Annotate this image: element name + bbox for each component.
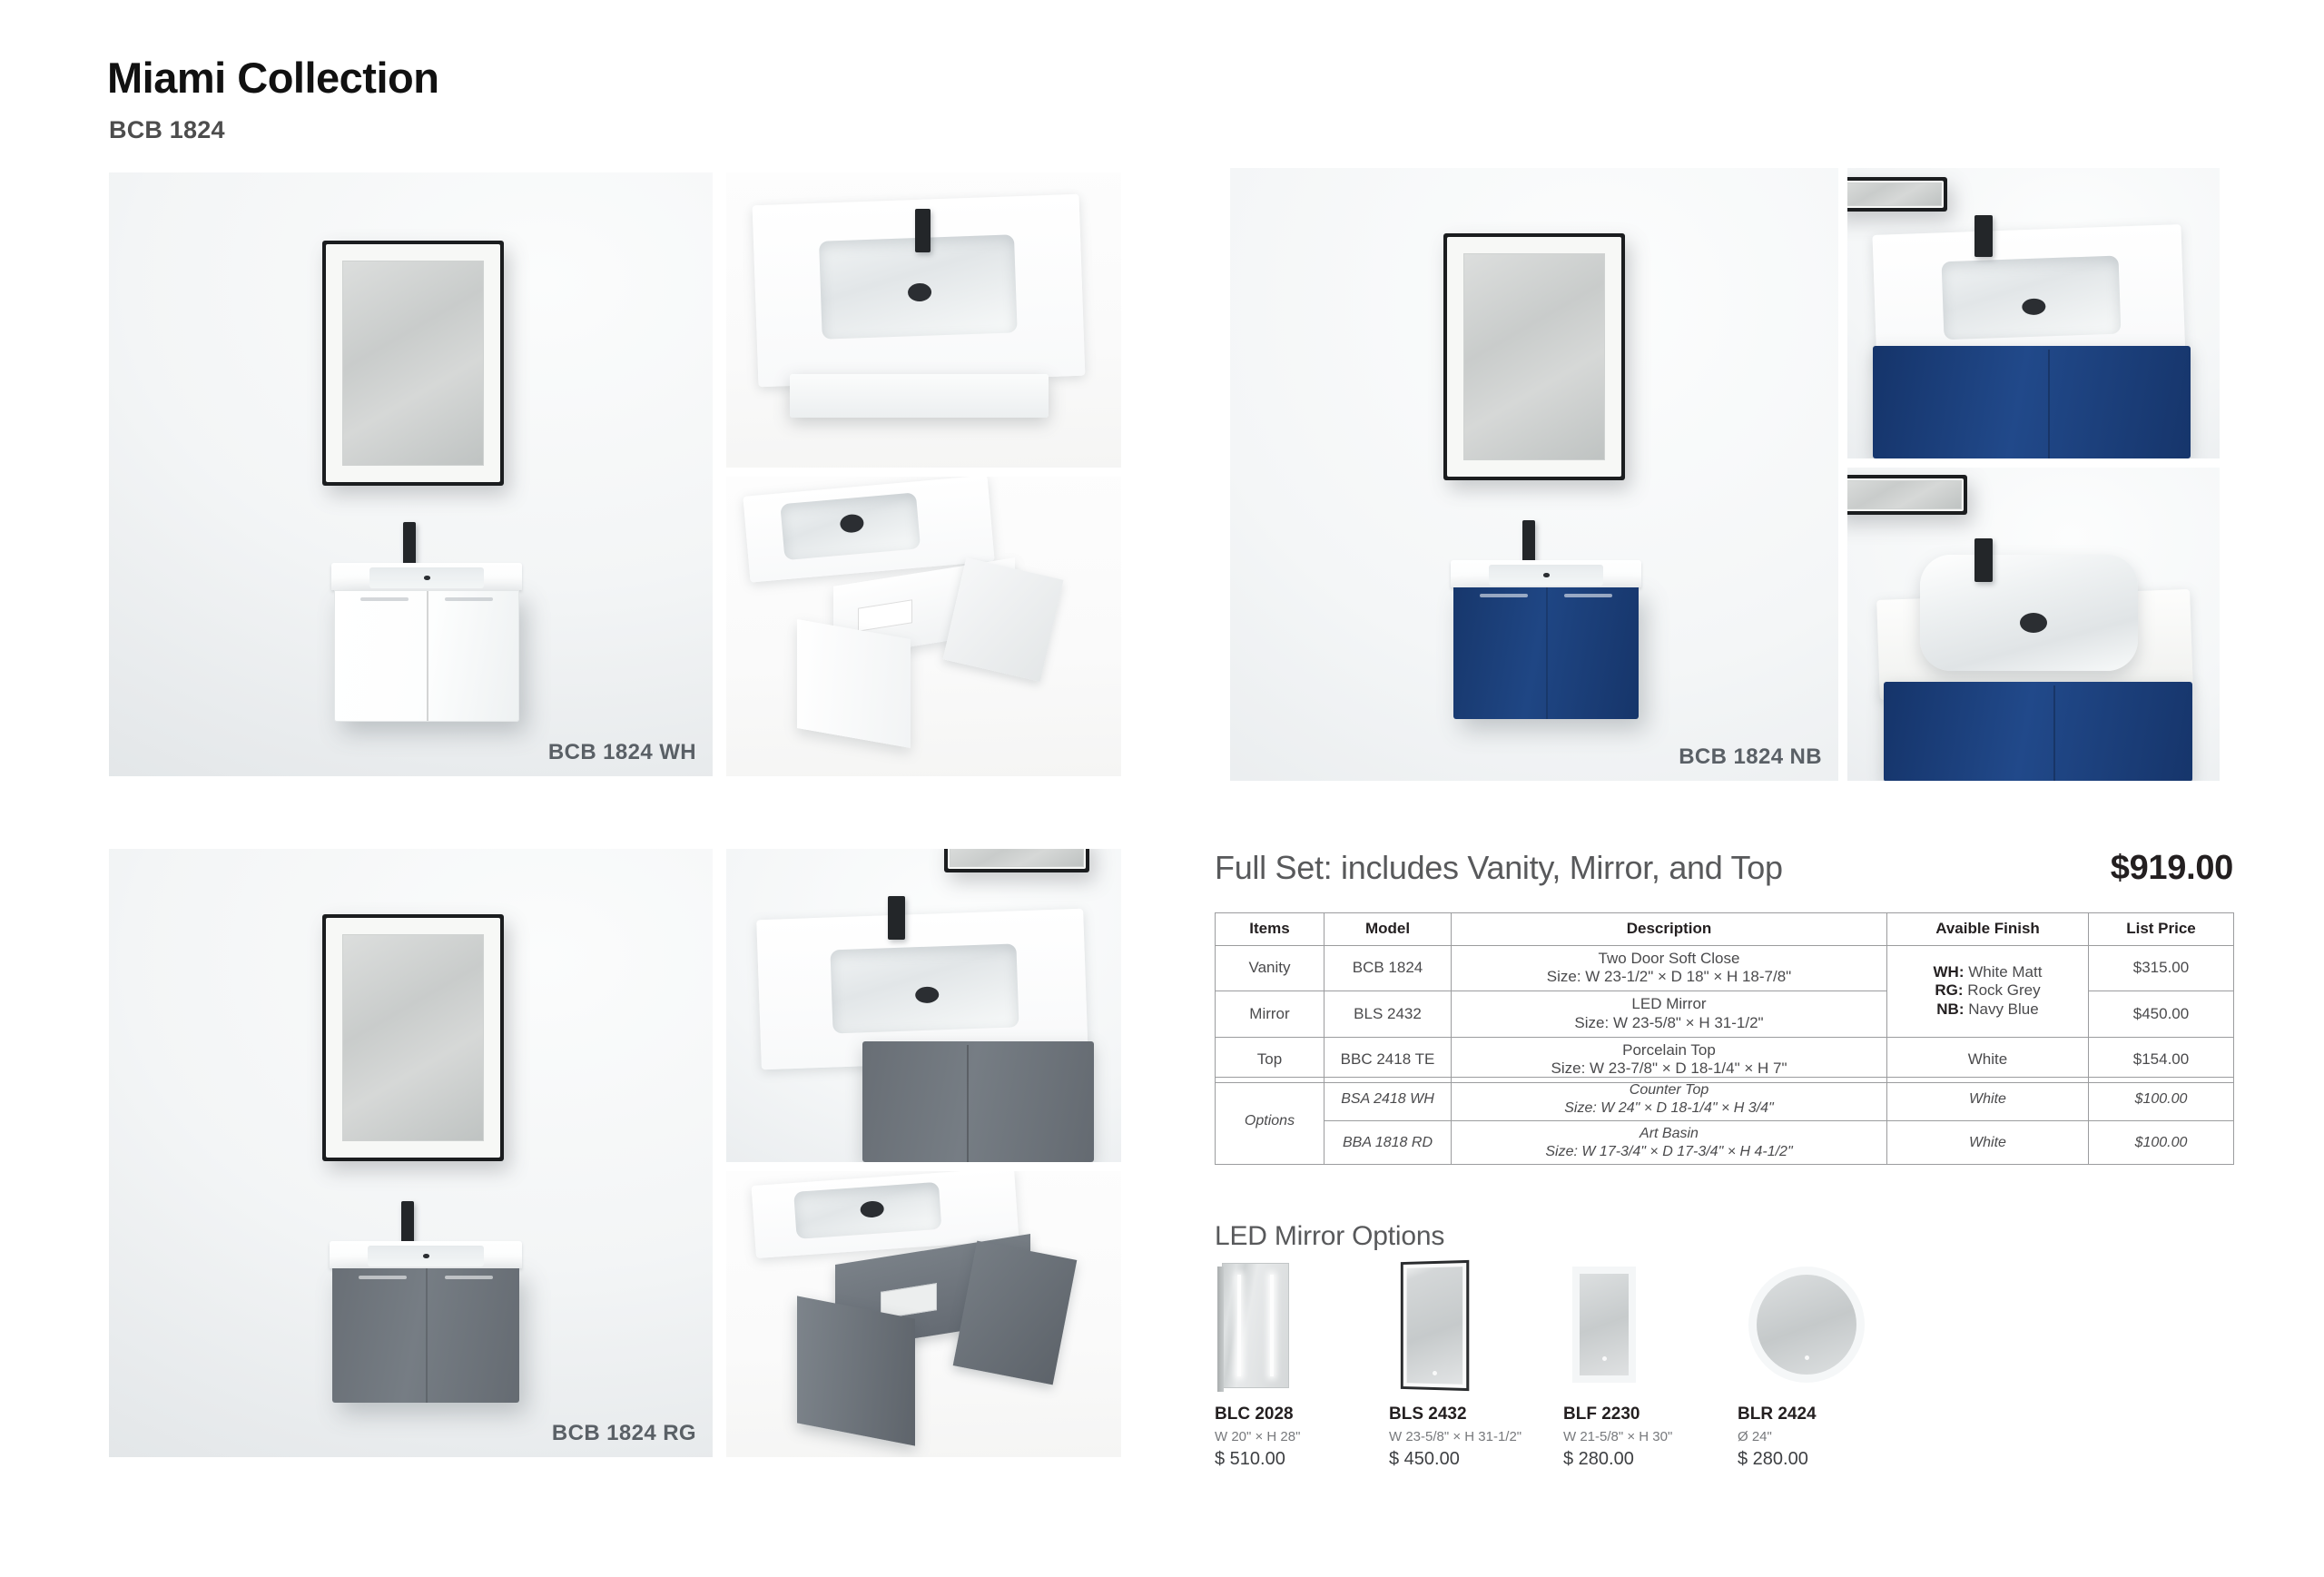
finish-code-wh: WH:: [1934, 963, 1965, 981]
vanity-illustration-nb: [1451, 560, 1641, 719]
cabinet-nb-illustration: [1873, 346, 2191, 458]
photo-caption-rg: BCB 1824 RG: [552, 1421, 696, 1446]
led-mirror-price: $ 280.00: [1563, 1449, 1738, 1470]
led-mirror-name: BLF 2230: [1563, 1405, 1738, 1424]
product-photo-wh-main: BCB 1824 WH: [109, 172, 713, 776]
product-photo-nb-detail-basin: [1847, 468, 2220, 781]
product-photo-nb-detail-top: [1847, 168, 2220, 458]
product-photo-rg-detail-top: [726, 849, 1121, 1162]
led-mirror-price: $ 450.00: [1389, 1449, 1563, 1470]
cell-desc: Two Door Soft Close Size: W 23-1/2" × D …: [1452, 945, 1887, 991]
led-mirror-option-blc2028[interactable]: BLC 2028 W 20" × H 28" $ 510.00: [1215, 1257, 1389, 1470]
cell-finish: White: [1887, 1078, 2089, 1121]
product-photo-nb-main: BCB 1824 NB: [1230, 168, 1838, 781]
desc-line-1: LED Mirror: [1631, 995, 1706, 1012]
finish-name-wh: White Matt: [1965, 963, 2043, 981]
mirror-edge-illustration: [1847, 177, 1947, 212]
cell-price: $450.00: [2089, 991, 2234, 1037]
photo-caption-nb: BCB 1824 NB: [1679, 744, 1822, 770]
full-set-label: Full Set: includes Vanity, Mirror, and T…: [1215, 849, 1783, 887]
led-mirror-cabinet-icon: [1215, 1257, 1389, 1392]
faucet-nb-illustration: [1974, 215, 1993, 257]
faucet-basin-illustration: [1974, 538, 1993, 582]
cell-item: Mirror: [1216, 991, 1324, 1037]
cabinet-detail-illustration: [790, 374, 1049, 418]
led-mirror-round-icon: [1738, 1257, 1912, 1392]
cell-finish: White: [1887, 1121, 2089, 1165]
vanity-illustration-rg: [330, 1241, 522, 1403]
desc-line-1: Porcelain Top: [1622, 1041, 1716, 1059]
cell-model: BBA 1818 RD: [1324, 1121, 1452, 1165]
mirror-edge-illustration-3: [944, 849, 1089, 872]
table-header-row: Items Model Description Avaible Finish L…: [1216, 913, 2234, 946]
led-mirror-name: BLS 2432: [1389, 1405, 1563, 1424]
options-table: Options BSA 2418 WH Counter Top Size: W …: [1215, 1077, 2234, 1165]
led-mirror-option-blr2424[interactable]: BLR 2424 Ø 24" $ 280.00: [1738, 1257, 1912, 1470]
options-row: BBA 1818 RD Art Basin Size: W 17-3/4" × …: [1216, 1121, 2234, 1165]
cell-finish-options: WH: White Matt RG: Rock Grey NB: Navy Bl…: [1887, 945, 2089, 1037]
desc-line-1: Two Door Soft Close: [1599, 950, 1740, 967]
catalog-page: Miami Collection BCB 1824 BCB 1824 WH: [0, 0, 2324, 1577]
th-desc: Description: [1452, 913, 1887, 946]
desc-line-2: Size: W 23-1/2" × D 18" × H 18-7/8": [1457, 968, 1881, 987]
led-mirror-size: W 21-5/8" × H 30": [1563, 1429, 1738, 1444]
full-set-price: $919.00: [2111, 849, 2233, 888]
faucet-detail-illustration: [915, 209, 931, 252]
cell-item: Vanity: [1216, 945, 1324, 991]
product-photo-wh-detail-top: [726, 172, 1121, 468]
art-basin-illustration: [1920, 555, 2138, 671]
spec-table: Items Model Description Avaible Finish L…: [1215, 912, 2234, 1083]
options-row: Options BSA 2418 WH Counter Top Size: W …: [1216, 1078, 2234, 1121]
open-door-left-rg-illustration: [797, 1296, 915, 1445]
cell-desc: LED Mirror Size: W 23-5/8" × H 31-1/2": [1452, 991, 1887, 1037]
cell-desc: Art Basin Size: W 17-3/4" × D 17-3/4" × …: [1452, 1121, 1887, 1165]
cabinet-rg-illustration: [862, 1041, 1094, 1162]
desc-line-1: Art Basin: [1640, 1126, 1699, 1141]
finish-code-nb: NB:: [1936, 1000, 1964, 1018]
mirror-illustration: [322, 241, 504, 486]
led-mirror-price: $ 510.00: [1215, 1449, 1389, 1470]
led-mirror-name: BLR 2424: [1738, 1405, 1912, 1424]
led-mirror-option-bls2432[interactable]: BLS 2432 W 23-5/8" × H 31-1/2" $ 450.00: [1389, 1257, 1563, 1470]
faucet-rg-illustration: [888, 896, 905, 940]
open-door-illustration: [942, 557, 1063, 682]
led-mirror-size: W 20" × H 28": [1215, 1429, 1389, 1444]
desc-line-2: Size: W 17-3/4" × D 17-3/4" × H 4-1/2": [1457, 1143, 1881, 1161]
full-set-row: Full Set: includes Vanity, Mirror, and T…: [1215, 849, 2233, 888]
th-model: Model: [1324, 913, 1452, 946]
cell-price: $315.00: [2089, 945, 2234, 991]
vanity-illustration-wh: [331, 563, 522, 722]
led-mirror-size: W 23-5/8" × H 31-1/2": [1389, 1429, 1563, 1444]
led-mirror-options-grid: BLC 2028 W 20" × H 28" $ 510.00 BLS 2432…: [1215, 1257, 1912, 1470]
th-finish: Avaible Finish: [1887, 913, 2089, 946]
led-mirror-framed-icon: [1389, 1257, 1563, 1392]
desc-line-2: Size: W 24" × D 18-1/4" × H 3/4": [1457, 1099, 1881, 1118]
mirror-illustration-nb: [1443, 233, 1625, 480]
cell-model: BLS 2432: [1324, 991, 1452, 1037]
page-title: Miami Collection: [107, 53, 438, 103]
cell-model: BSA 2418 WH: [1324, 1078, 1452, 1121]
led-mirror-name: BLC 2028: [1215, 1405, 1389, 1424]
mirror-edge-illustration-2: [1847, 475, 1967, 515]
product-photo-rg-detail-open: [726, 1171, 1121, 1457]
cell-model: BCB 1824: [1324, 945, 1452, 991]
th-items: Items: [1216, 913, 1324, 946]
led-mirror-option-blf2230[interactable]: BLF 2230 W 21-5/8" × H 30" $ 280.00: [1563, 1257, 1738, 1470]
open-door-left-illustration: [797, 619, 911, 748]
th-price: List Price: [2089, 913, 2234, 946]
mirror-illustration-rg: [322, 914, 504, 1161]
cell-price: $100.00: [2089, 1078, 2234, 1121]
photo-caption-wh: BCB 1824 WH: [548, 740, 696, 765]
cell-options-label: Options: [1216, 1078, 1324, 1165]
finish-code-rg: RG:: [1935, 981, 1963, 999]
cell-desc: Counter Top Size: W 24" × D 18-1/4" × H …: [1452, 1078, 1887, 1121]
desc-line-1: Counter Top: [1630, 1082, 1709, 1098]
desc-line-2: Size: W 23-5/8" × H 31-1/2": [1457, 1014, 1881, 1033]
finish-name-nb: Navy Blue: [1965, 1000, 2039, 1018]
table-row: Vanity BCB 1824 Two Door Soft Close Size…: [1216, 945, 2234, 991]
product-photo-wh-detail-open: [726, 477, 1121, 776]
led-mirror-options-heading: LED Mirror Options: [1215, 1221, 1444, 1252]
page-subtitle: BCB 1824: [109, 116, 225, 144]
led-mirror-size: Ø 24": [1738, 1429, 1912, 1444]
cell-price: $100.00: [2089, 1121, 2234, 1165]
finish-name-rg: Rock Grey: [1964, 981, 2041, 999]
led-mirror-price: $ 280.00: [1738, 1449, 1912, 1470]
led-mirror-frameless-icon: [1563, 1257, 1738, 1392]
cabinet-nb-2-illustration: [1884, 682, 2192, 781]
product-photo-rg-main: BCB 1824 RG: [109, 849, 713, 1457]
